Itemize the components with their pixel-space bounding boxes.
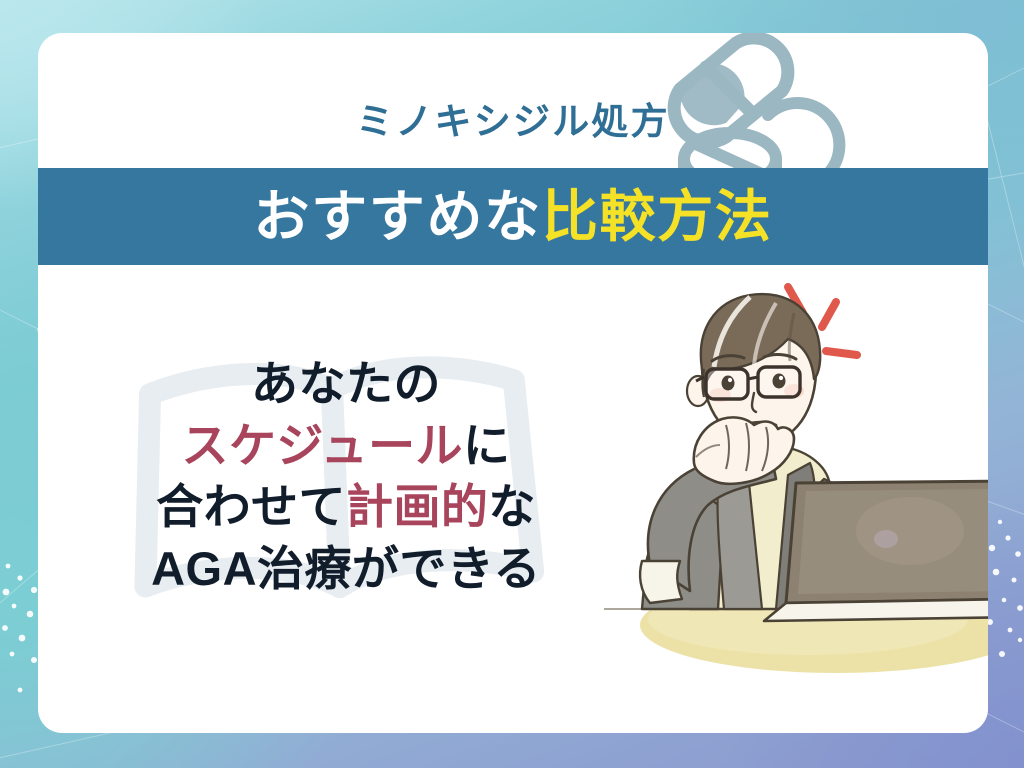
man-hand	[694, 417, 794, 483]
glasses-icon	[696, 367, 800, 399]
man-body	[642, 447, 882, 609]
copy-seg: あなたの	[251, 357, 441, 410]
desk-surface	[640, 577, 988, 673]
headline-band: おすすめな比較方法	[38, 168, 988, 265]
white-content-card: ミノキシジル処方 おすすめな比較方法 あなたの スケジュールに 合わせ	[38, 33, 988, 733]
body-copy: あなたの スケジュールに 合わせて計画的な AGA治療ができる	[86, 353, 606, 599]
copy-seg: 合わせて	[156, 480, 346, 533]
copy-seg-highlight: スケジュール	[181, 419, 463, 472]
copy-line-2: スケジュールに	[86, 415, 606, 477]
copy-seg: な	[488, 480, 535, 533]
man-head	[687, 294, 820, 465]
man-arm	[640, 449, 776, 603]
copy-line-4: AGA治療ができる	[86, 538, 606, 600]
headline-text: おすすめな比較方法	[253, 189, 772, 245]
copy-seg-highlight: 計画的	[346, 480, 488, 533]
laptop	[764, 481, 988, 621]
eyebrow-text: ミノキシジル処方	[38, 91, 988, 145]
copy-seg: に	[463, 419, 510, 472]
headline-plain: おすすめな	[253, 185, 541, 248]
headline-highlight: 比較方法	[542, 185, 773, 248]
copy-line-1: あなたの	[86, 353, 606, 415]
copy-line-3: 合わせて計画的な	[86, 476, 606, 538]
man-thinking-at-laptop-illustration	[598, 273, 988, 693]
copy-seg: AGA治療ができる	[151, 542, 541, 595]
poster-canvas: ミノキシジル処方 おすすめな比較方法 あなたの スケジュールに 合わせ	[0, 0, 1024, 768]
accent-lines-icon	[788, 287, 857, 355]
